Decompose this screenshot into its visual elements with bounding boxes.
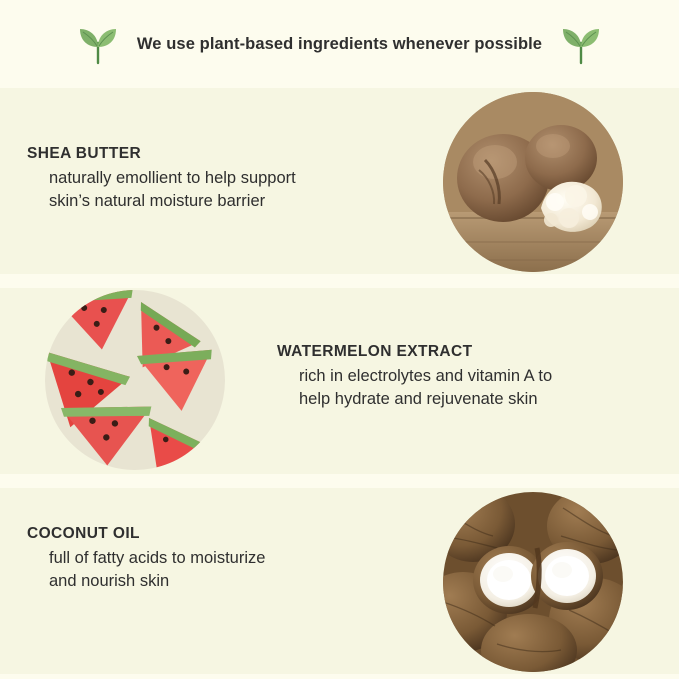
ingredient-text-watermelon-extract: WATERMELON EXTRACT rich in electrolytes …: [277, 343, 657, 412]
coconut-photo: [443, 492, 623, 672]
watermelon-photo: [45, 290, 225, 470]
ingredient-description: rich in electrolytes and vitamin A to he…: [277, 365, 657, 412]
ingredient-text-coconut-oil: COCONUT OIL full of fatty acids to moist…: [27, 525, 427, 594]
leaf-sprout-icon: [558, 21, 604, 67]
ingredient-title: SHEA BUTTER: [27, 145, 427, 163]
header: We use plant-based ingredients whenever …: [0, 0, 679, 88]
ingredient-text-shea-butter: SHEA BUTTER naturally emollient to help …: [27, 145, 427, 214]
ingredient-description: full of fatty acids to moisturize and no…: [27, 547, 427, 594]
band-separator: [0, 474, 679, 488]
leaf-sprout-icon: [75, 21, 121, 67]
ingredient-description: naturally emollient to help support skin…: [27, 167, 427, 214]
header-title: We use plant-based ingredients whenever …: [137, 35, 542, 54]
shea-butter-photo: [443, 92, 623, 272]
ingredient-title: COCONUT OIL: [27, 525, 427, 543]
ingredient-title: WATERMELON EXTRACT: [277, 343, 657, 361]
page-footer-strip: [0, 674, 679, 679]
band-separator: [0, 274, 679, 288]
ingredient-infographic: We use plant-based ingredients whenever …: [0, 0, 679, 679]
